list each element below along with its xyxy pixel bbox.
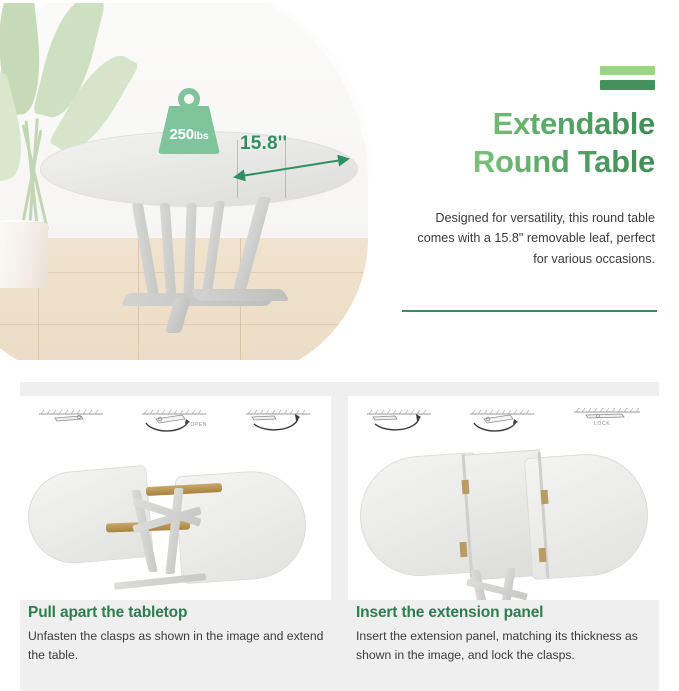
- hero-copy: Extendable Round Table Designed for vers…: [400, 0, 679, 372]
- product-photo: 250lbs 15.8'': [0, 0, 390, 360]
- accent-bar-light: [600, 66, 655, 75]
- step-illustration: [20, 430, 331, 600]
- dimension-arrow-icon: [228, 155, 356, 181]
- tabletop-half-left: [24, 465, 154, 567]
- step-image: OPEN: [20, 396, 331, 600]
- step-title: Insert the extension panel: [356, 604, 656, 622]
- step-description: Unfasten the clasps as shown in the imag…: [28, 627, 324, 664]
- weight-unit: lbs: [194, 130, 209, 142]
- headline-line-2: Round Table: [405, 143, 655, 181]
- leaf-dimension-callout: 15.8'': [228, 133, 356, 181]
- hero-section: 250lbs 15.8'': [0, 0, 679, 372]
- step-title: Pull apart the tabletop: [28, 604, 328, 622]
- weight-value: 250: [169, 126, 193, 143]
- step-card: LOCK: [348, 382, 659, 691]
- product-infographic: 250lbs 15.8'': [0, 0, 679, 691]
- weight-capacity-label: 250lbs: [152, 126, 226, 143]
- dimension-label: 15.8'': [240, 133, 287, 155]
- steps-section: OPEN: [20, 382, 659, 691]
- step-card: OPEN: [20, 382, 331, 691]
- step-description: Insert the extension panel, matching its…: [356, 627, 652, 664]
- weight-capacity-badge: 250lbs: [152, 86, 226, 154]
- step-illustration: [348, 430, 659, 600]
- accent-bar-dark: [600, 80, 655, 90]
- accent-bars: [600, 66, 655, 92]
- clasp-caption-lock: LOCK: [594, 421, 610, 427]
- headline-line-1: Extendable: [405, 105, 655, 143]
- hero-subcopy: Designed for versatility, this round tab…: [403, 208, 655, 269]
- page-title: Extendable Round Table: [405, 105, 655, 181]
- divider-rule: [402, 310, 657, 312]
- step-image: LOCK: [348, 396, 659, 600]
- clasp-caption-open: OPEN: [190, 422, 207, 428]
